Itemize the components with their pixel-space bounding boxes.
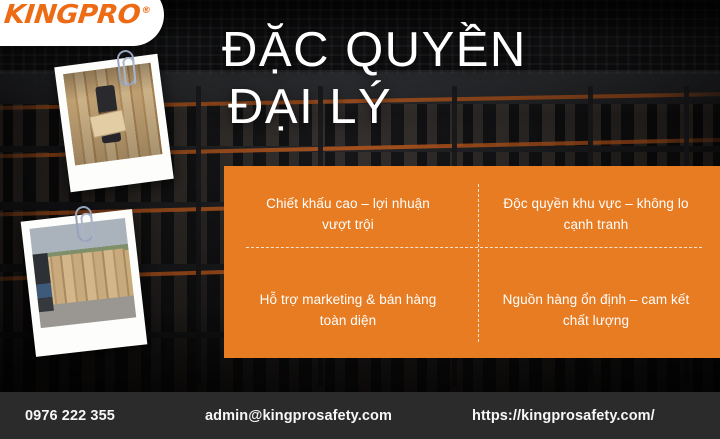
photo-worker-loading-boxes (63, 63, 162, 166)
benefit-text-3: Hỗ trợ marketing & bán hàng toàn diện (253, 289, 443, 331)
page-title-line-1: ĐẶC QUYỀN (222, 22, 692, 79)
benefit-text-4: Nguồn hàng ổn định – cam kết chất lượng (501, 289, 691, 331)
benefits-panel: Chiết khấu cao – lợi nhuận vượt trội Độc… (224, 166, 720, 358)
brand-logo[interactable]: KINGPRO® (0, 0, 164, 46)
contact-email[interactable]: admin@kingprosafety.com (205, 408, 392, 424)
registered-trademark-icon: ® (141, 6, 151, 16)
horizontal-dashed-divider (246, 247, 702, 248)
page-title: ĐẶC QUYỀN ĐẠI LÝ (222, 22, 692, 136)
dealer-privilege-banner: KINGPRO® ĐẶC QUYỀN ĐẠI LÝ Chiết khấu cao… (0, 0, 720, 439)
benefit-text-1: Chiết khấu cao – lợi nhuận vượt trội (253, 193, 443, 235)
contact-website[interactable]: https://kingprosafety.com/ (472, 408, 655, 424)
brand-logo-wordmark: KINGPRO (3, 0, 142, 30)
polaroid-photo-container-loading (54, 54, 174, 192)
contact-phone[interactable]: 0976 222 355 (25, 408, 115, 424)
benefit-cell-4: Nguồn hàng ổn định – cam kết chất lượng (472, 262, 720, 358)
contact-footer-bar: 0976 222 355 admin@kingprosafety.com htt… (0, 392, 720, 439)
benefits-grid: Chiết khấu cao – lợi nhuận vượt trội Độc… (224, 166, 720, 358)
page-title-line-2: ĐẠI LÝ (222, 79, 692, 136)
vertical-dashed-divider (478, 184, 479, 342)
benefit-text-2: Độc quyền khu vực – không lo cạnh tranh (501, 193, 691, 235)
benefit-cell-3: Hỗ trợ marketing & bán hàng toàn diện (224, 262, 472, 358)
brand-logo-text: KINGPRO® (3, 0, 152, 30)
